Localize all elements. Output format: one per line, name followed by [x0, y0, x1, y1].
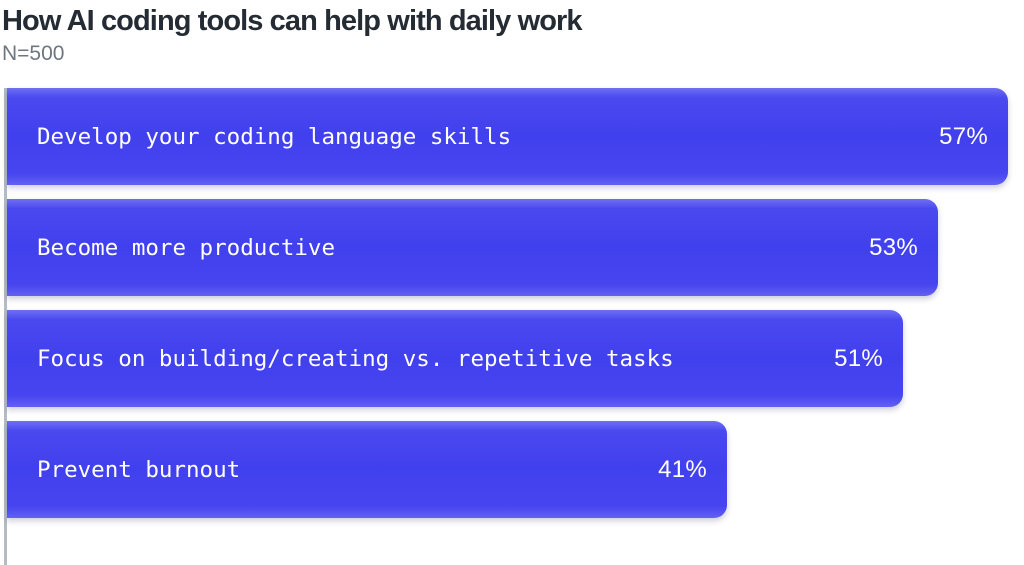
page-title: How AI coding tools can help with daily … — [2, 4, 1024, 38]
bar[interactable]: Become more productive53% — [7, 199, 938, 296]
bar-category-label: Prevent burnout — [37, 457, 240, 483]
bar-category-label: Become more productive — [37, 235, 335, 261]
bar-category-label: Focus on building/creating vs. repetitiv… — [37, 346, 674, 372]
bar-row[interactable]: Develop your coding language skills57% — [7, 88, 1008, 185]
chart-header: How AI coding tools can help with daily … — [0, 0, 1024, 66]
bar[interactable]: Develop your coding language skills57% — [7, 88, 1008, 185]
bar-row[interactable]: Become more productive53% — [7, 199, 938, 296]
bar-value-label: 57% — [939, 123, 988, 151]
bar-value-label: 41% — [658, 456, 707, 484]
bar[interactable]: Prevent burnout41% — [7, 421, 727, 518]
bar-row[interactable]: Focus on building/creating vs. repetitiv… — [7, 310, 903, 407]
bar-series: Develop your coding language skills57%Be… — [7, 88, 1024, 565]
bar-value-label: 53% — [869, 234, 918, 262]
chart-figure: How AI coding tools can help with daily … — [0, 0, 1024, 565]
bar-category-label: Develop your coding language skills — [37, 124, 511, 150]
plot-area: Develop your coding language skills57%Be… — [0, 88, 1024, 565]
chart-subtitle: N=500 — [2, 42, 1024, 66]
bar-value-label: 51% — [834, 345, 883, 373]
bar-row[interactable]: Prevent burnout41% — [7, 421, 727, 518]
bar[interactable]: Focus on building/creating vs. repetitiv… — [7, 310, 903, 407]
